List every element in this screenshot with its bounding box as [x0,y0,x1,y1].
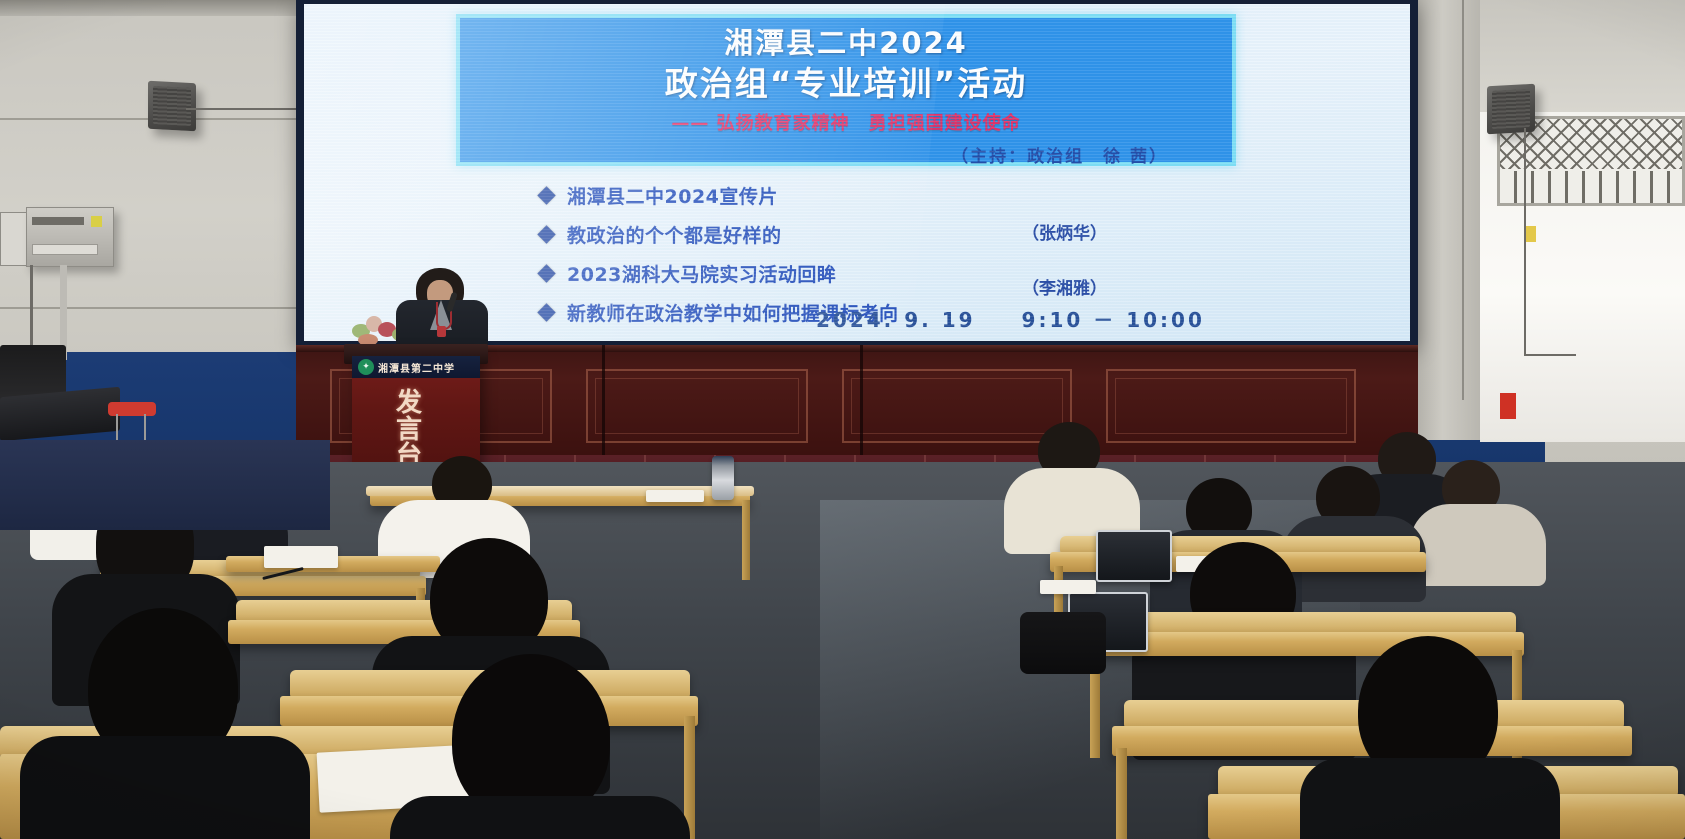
list-item: 湘潭县二中2024宣传片 [540,182,1190,209]
agenda-presenter-name: （李湘雅） [1022,274,1107,299]
slide-title-line1: 湘潭县二中2024 [460,29,1232,58]
desk-leg [1116,748,1127,839]
floor-left-shadow [0,440,330,530]
diamond-bullet-icon [537,303,555,321]
thermos [712,456,734,500]
stage-seam [602,345,605,463]
wall-pillar [1418,0,1480,440]
slide-title-panel: 湘潭县二中2024 政治组“专业培训”活动 —— 弘扬教育家精神 勇担强国建设使… [456,14,1236,166]
wall-speaker-left-icon [148,81,196,132]
stool-legs [112,414,152,440]
slide-host-line: （主持：政治组 徐 茜） [460,142,1232,167]
podium-school-name: 湘潭县第二中学 [378,360,455,375]
agenda-item-text: 教政治的个个都是好样的 [567,221,782,248]
stage-seam [860,345,863,463]
tablet [1096,530,1172,582]
wire [30,265,33,357]
paper [264,546,338,568]
wire [1524,128,1526,356]
diamond-bullet-icon [537,186,555,204]
wall-speaker-right-icon [1487,84,1535,135]
red-object [1500,393,1516,419]
agenda-presenter-name: （张炳华） [1022,219,1107,244]
slide-date-time: 2024. 9. 19 9:10 － 10:00 [816,304,1205,333]
podium-nameplate: ✦ 湘潭县第二中学 [352,356,480,378]
podium-front-label: 发言台 [396,390,438,470]
slide-subtitle: —— 弘扬教育家精神 勇担强国建设使命 [460,109,1232,135]
electrical-box [26,207,114,267]
paper [1040,580,1096,594]
wire [186,108,298,110]
wire [1524,354,1576,356]
diamond-bullet-icon [537,264,555,282]
window-bars [1500,171,1685,206]
wall-seam [0,307,296,309]
logo-glyph: ✦ [362,363,370,372]
projection-screen: 湘潭县二中2024 政治组“专业培训”活动 —— 弘扬教育家精神 勇担强国建设使… [304,4,1410,341]
paper [646,490,704,502]
diamond-bullet-icon [537,225,555,243]
agenda-item-text: 湘潭县二中2024宣传片 [567,182,778,209]
photo-canvas: 湘潭县二中2024 政治组“专业培训”活动 —— 弘扬教育家精神 勇担强国建设使… [0,0,1685,839]
presenter-badge [437,326,446,337]
desk-leg [742,500,750,580]
bag [1020,612,1106,674]
school-logo-icon: ✦ [358,359,374,375]
pillar-edge [1462,0,1464,400]
agenda-item-text: 2023湖科大马院实习活动回眸 [567,260,836,287]
slide-title-line2: 政治组“专业培训”活动 [460,67,1232,100]
